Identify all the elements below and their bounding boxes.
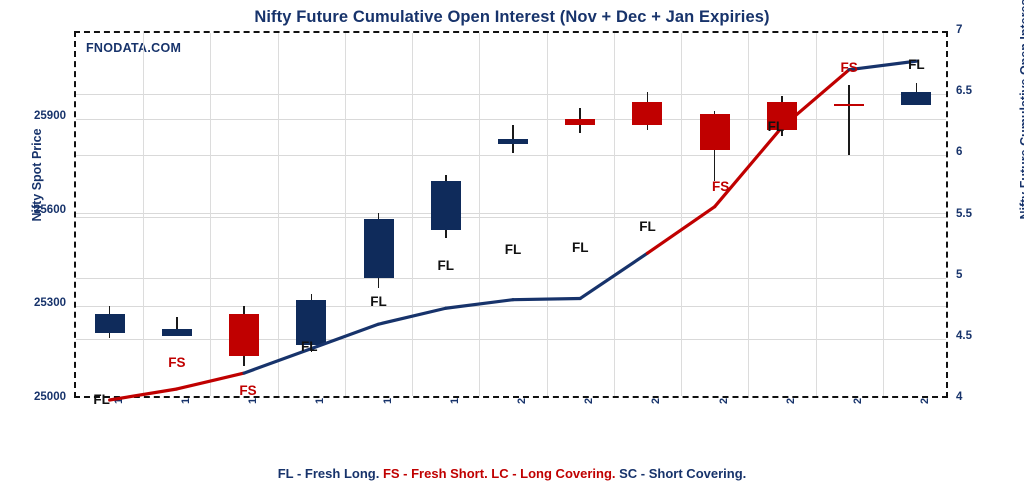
oi-segment-long — [311, 324, 378, 348]
y-tick-left-25300: 25300 — [2, 297, 66, 309]
annotation-fresh-long-20-Oct-25: FL — [505, 242, 522, 257]
annotation-fresh-short-28-Oct-25: FS — [841, 60, 858, 75]
y-tick-right-5.5: 5.5 — [956, 208, 972, 220]
y-tick-right-4.5: 4.5 — [956, 330, 972, 342]
annotation-fresh-long-16-Oct-25: FL — [370, 294, 387, 309]
annotation-fresh-short-13-Oct-25: FS — [168, 355, 185, 370]
oi-segment-short — [110, 389, 177, 400]
oi-segment-long — [446, 300, 513, 309]
oi-segment-long — [513, 298, 580, 299]
legend-fresh-long: FL - Fresh Long. — [278, 466, 380, 481]
y-tick-right-7: 7 — [956, 24, 962, 36]
annotation-fresh-long-23-Oct-25: FL — [639, 219, 656, 234]
oi-segment-short — [782, 70, 849, 127]
oi-segment-short — [177, 373, 244, 389]
y-tick-right-6: 6 — [956, 146, 962, 158]
legend-short-covering: SC - Short Covering. — [619, 466, 746, 481]
oi-segment-short — [647, 207, 714, 253]
legend-footer: FL - Fresh Long. FS - Fresh Short. LC - … — [0, 466, 1024, 481]
annotation-fresh-short-14-Oct-25: FS — [239, 383, 256, 398]
oi-segment-long — [849, 61, 916, 70]
annotation-fresh-long-10-Oct-25: FL — [93, 392, 110, 407]
y-tick-left-25600: 25600 — [2, 204, 66, 216]
oi-segment-short — [715, 127, 782, 207]
oi-segment-long — [379, 308, 446, 324]
y-tick-right-4: 4 — [956, 391, 962, 403]
annotation-fresh-long-21-Oct-25: FL — [572, 240, 589, 255]
chart-screenshot: Nifty Future Cumulative Open Interest (N… — [0, 0, 1024, 487]
y-axis-title-right: Nifty Future Cumulative Open Interest — [1018, 0, 1024, 252]
legend-fresh-short-long-covering: FS - Fresh Short. LC - Long Covering. — [383, 466, 616, 481]
annotation-fresh-long-15-Oct-25: FL — [301, 339, 318, 354]
open-interest-line — [76, 33, 950, 400]
y-tick-left-25000: 25000 — [2, 391, 66, 403]
annotation-fresh-short-24-Oct-25: FS — [712, 179, 729, 194]
oi-segment-long — [580, 253, 647, 298]
annotation-fresh-long-27-Oct-25: FL — [768, 119, 785, 134]
y-tick-left-25900: 25900 — [2, 110, 66, 122]
plot-area: FNODATA.COM FLFSFSFLFLFLFLFLFLFSFLFSFL — [74, 31, 948, 398]
annotation-fresh-long-29-Oct-25: FL — [908, 57, 925, 72]
page-title: Nifty Future Cumulative Open Interest (N… — [0, 8, 1024, 27]
annotation-fresh-long-17-Oct-25: FL — [438, 258, 455, 273]
y-tick-right-6.5: 6.5 — [956, 85, 972, 97]
y-tick-right-5: 5 — [956, 269, 962, 281]
